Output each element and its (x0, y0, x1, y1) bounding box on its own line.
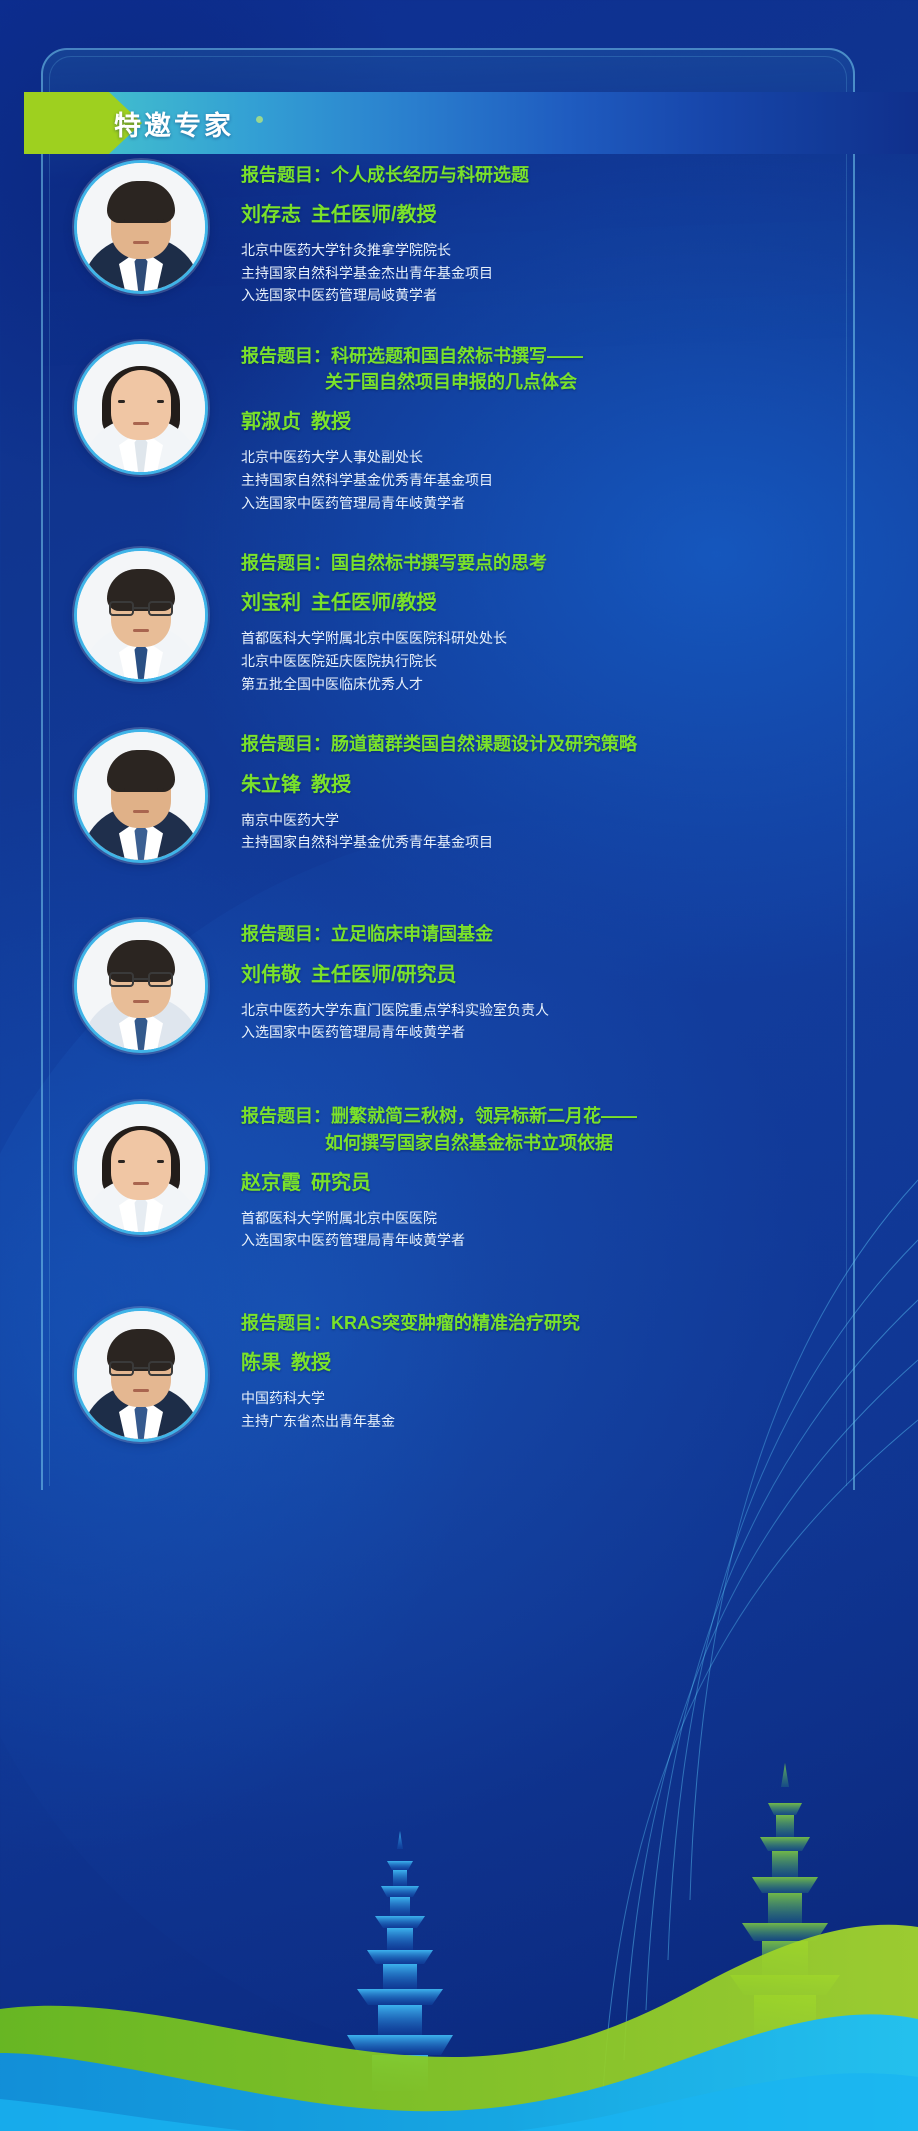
affiliation-list: 首都医科大学附属北京中医医院科研处处长北京中医医院延庆医院执行院长第五批全国中医… (241, 627, 894, 695)
portrait-mouth (133, 1389, 149, 1392)
speaker-name: 陈果教授 (241, 1346, 894, 1375)
affiliation-line: 主持国家自然科学基金优秀青年基金项目 (241, 831, 894, 854)
avatar-wrapper (41, 1097, 241, 1235)
speaker-name: 刘宝利主任医师/教授 (241, 586, 894, 615)
affiliation-list: 北京中医药大学东直门医院重点学科实验室负责人入选国家中医药管理局青年岐黄学者 (241, 999, 894, 1044)
affiliation-line: 第五批全国中医临床优秀人才 (241, 673, 894, 696)
speaker-rank: 研究员 (311, 1172, 371, 1194)
talk-title-continuation: 关于国自然项目申报的几点体会 (241, 369, 894, 395)
wave-blue (0, 2014, 918, 2131)
speaker-row: 报告题目：国自然标书撰写要点的思考刘宝利主任医师/教授首都医科大学附属北京中医医… (41, 544, 918, 695)
speaker-name: 赵京霞研究员 (241, 1166, 894, 1195)
talk-title: 报告题目：科研选题和国自然标书撰写——关于国自然项目申报的几点体会 (241, 343, 894, 395)
affiliation-line: 入选国家中医药管理局青年岐黄学者 (241, 1021, 894, 1044)
speaker-rank: 主任医师/教授 (311, 592, 437, 614)
speaker-row: 报告题目：立足临床申请国基金刘伟敬主任医师/研究员北京中医药大学东直门医院重点学… (41, 915, 918, 1053)
avatar (74, 160, 208, 294)
speaker-list: 报告题目：个人成长经历与科研选题刘存志主任医师/教授北京中医药大学针灸推拿学院院… (41, 156, 918, 1442)
avatar (74, 729, 208, 863)
avatar (74, 341, 208, 475)
affiliation-line: 入选国家中医药管理局岐黄学者 (241, 284, 894, 307)
speaker-rank: 教授 (291, 1352, 331, 1374)
portrait-mouth (133, 629, 149, 632)
affiliation-list: 首都医科大学附属北京中医医院入选国家中医药管理局青年岐黄学者 (241, 1207, 894, 1252)
glasses-icon (109, 972, 173, 988)
affiliation-line: 南京中医药大学 (241, 809, 894, 832)
affiliation-list: 北京中医药大学针灸推拿学院院长主持国家自然科学基金杰出青年基金项目入选国家中医药… (241, 239, 894, 307)
avatar-wrapper (41, 915, 241, 1053)
speaker-details: 报告题目：立足临床申请国基金刘伟敬主任医师/研究员北京中医药大学东直门医院重点学… (241, 915, 918, 1043)
wave-blue-light (0, 2073, 918, 2131)
avatar-wrapper (41, 544, 241, 682)
speaker-details: 报告题目：国自然标书撰写要点的思考刘宝利主任医师/教授首都医科大学附属北京中医医… (241, 544, 918, 695)
talk-title-text: 肠道菌群类国自然课题设计及研究策略 (331, 734, 637, 754)
portrait-mouth (133, 810, 149, 813)
speaker-name-text: 朱立锋 (241, 774, 301, 796)
wave-green (0, 1925, 918, 2131)
speaker-details: 报告题目：删繁就简三秋树，领异标新二月花——如何撰写国家自然基金标书立项依据赵京… (241, 1097, 918, 1252)
talk-title: 报告题目：KRAS突变肿瘤的精准治疗研究 (241, 1310, 894, 1336)
talk-title: 报告题目：国自然标书撰写要点的思考 (241, 550, 894, 576)
avatar (74, 919, 208, 1053)
talk-title: 报告题目：删繁就简三秋树，领异标新二月花——如何撰写国家自然基金标书立项依据 (241, 1103, 894, 1155)
speaker-name-text: 陈果 (241, 1352, 281, 1374)
talk-title-label: 报告题目： (241, 165, 331, 185)
talk-title-label: 报告题目： (241, 1313, 331, 1333)
pagoda-large-icon (730, 1763, 840, 2035)
talk-title-text: KRAS突变肿瘤的精准治疗研究 (331, 1313, 580, 1333)
glasses-icon (109, 601, 173, 617)
decorative-dot-icon (256, 116, 263, 123)
speaker-row: 报告题目：删繁就简三秋树，领异标新二月花——如何撰写国家自然基金标书立项依据赵京… (41, 1097, 918, 1252)
affiliation-line: 北京中医医院延庆医院执行院长 (241, 650, 894, 673)
speaker-name: 刘伟敬主任医师/研究员 (241, 958, 894, 987)
talk-title-text: 立足临床申请国基金 (331, 924, 493, 944)
affiliation-list: 南京中医药大学主持国家自然科学基金优秀青年基金项目 (241, 809, 894, 854)
glasses-icon (109, 1361, 173, 1377)
portrait-eye (118, 400, 125, 403)
talk-title-text: 个人成长经历与科研选题 (331, 165, 529, 185)
poster-page: { "header": { "title": "特邀专家", "chevron_… (0, 0, 918, 2131)
speaker-name: 郭淑贞教授 (241, 405, 894, 434)
speaker-name-text: 刘伟敬 (241, 964, 301, 986)
portrait-mouth (133, 241, 149, 244)
talk-title: 报告题目：个人成长经历与科研选题 (241, 162, 894, 188)
avatar-wrapper (41, 1304, 241, 1442)
avatar-wrapper (41, 156, 241, 294)
affiliation-list: 中国药科大学主持广东省杰出青年基金 (241, 1387, 894, 1432)
affiliation-line: 首都医科大学附属北京中医医院 (241, 1207, 894, 1230)
talk-title-text: 科研选题和国自然标书撰写—— (331, 346, 583, 366)
speaker-details: 报告题目：个人成长经历与科研选题刘存志主任医师/教授北京中医药大学针灸推拿学院院… (241, 156, 918, 307)
portrait-face (111, 1130, 171, 1200)
affiliation-list: 北京中医药大学人事处副处长主持国家自然科学基金优秀青年基金项目入选国家中医药管理… (241, 446, 894, 514)
avatar (74, 1308, 208, 1442)
speaker-row: 报告题目：KRAS突变肿瘤的精准治疗研究陈果教授中国药科大学主持广东省杰出青年基… (41, 1304, 918, 1442)
talk-title-label: 报告题目： (241, 924, 331, 944)
speaker-rank: 教授 (311, 774, 351, 796)
speaker-details: 报告题目：肠道菌群类国自然课题设计及研究策略朱立锋教授南京中医药大学主持国家自然… (241, 725, 918, 853)
talk-title: 报告题目：立足临床申请国基金 (241, 921, 894, 947)
talk-title-label: 报告题目： (241, 553, 331, 573)
portrait-mouth (133, 1000, 149, 1003)
speaker-details: 报告题目：科研选题和国自然标书撰写——关于国自然项目申报的几点体会郭淑贞教授北京… (241, 337, 918, 514)
speaker-details: 报告题目：KRAS突变肿瘤的精准治疗研究陈果教授中国药科大学主持广东省杰出青年基… (241, 1304, 918, 1432)
speaker-name: 朱立锋教授 (241, 768, 894, 797)
portrait-eye (157, 219, 164, 222)
talk-title-label: 报告题目： (241, 734, 331, 754)
speaker-name: 刘存志主任医师/教授 (241, 198, 894, 227)
affiliation-line: 首都医科大学附属北京中医医院科研处处长 (241, 627, 894, 650)
speaker-name-text: 刘宝利 (241, 592, 301, 614)
avatar-wrapper (41, 725, 241, 863)
speaker-name-text: 郭淑贞 (241, 411, 301, 433)
speaker-name-text: 刘存志 (241, 204, 301, 226)
portrait-face (111, 370, 171, 440)
bottom-decoration (0, 1571, 918, 2131)
affiliation-line: 北京中医药大学人事处副处长 (241, 446, 894, 469)
avatar-wrapper (41, 337, 241, 475)
page-title: 特邀专家 (114, 92, 234, 154)
talk-title-continuation: 如何撰写国家自然基金标书立项依据 (241, 1130, 894, 1156)
affiliation-line: 中国药科大学 (241, 1387, 894, 1410)
affiliation-line: 北京中医药大学针灸推拿学院院长 (241, 239, 894, 262)
talk-title-text: 删繁就简三秋树，领异标新二月花—— (331, 1106, 637, 1126)
affiliation-line: 入选国家中医药管理局青年岐黄学者 (241, 1229, 894, 1252)
speaker-name-text: 赵京霞 (241, 1172, 301, 1194)
avatar (74, 548, 208, 682)
affiliation-line: 入选国家中医药管理局青年岐黄学者 (241, 492, 894, 515)
talk-title-label: 报告题目： (241, 1106, 331, 1126)
portrait-eye (118, 219, 125, 222)
affiliation-line: 主持国家自然科学基金优秀青年基金项目 (241, 469, 894, 492)
pagoda-small-icon (347, 1831, 453, 2091)
speaker-row: 报告题目：个人成长经历与科研选题刘存志主任医师/教授北京中医药大学针灸推拿学院院… (41, 156, 918, 307)
talk-title-text: 国自然标书撰写要点的思考 (331, 553, 547, 573)
speaker-row: 报告题目：肠道菌群类国自然课题设计及研究策略朱立锋教授南京中医药大学主持国家自然… (41, 725, 918, 863)
speaker-rank: 主任医师/研究员 (311, 964, 457, 986)
affiliation-line: 主持国家自然科学基金杰出青年基金项目 (241, 262, 894, 285)
portrait-eye (157, 400, 164, 403)
affiliation-line: 北京中医药大学东直门医院重点学科实验室负责人 (241, 999, 894, 1022)
speaker-rank: 主任医师/教授 (311, 204, 437, 226)
talk-title-label: 报告题目： (241, 346, 331, 366)
speaker-rank: 教授 (311, 411, 351, 433)
speaker-row: 报告题目：科研选题和国自然标书撰写——关于国自然项目申报的几点体会郭淑贞教授北京… (41, 337, 918, 514)
affiliation-line: 主持广东省杰出青年基金 (241, 1410, 894, 1433)
portrait-mouth (133, 422, 149, 425)
avatar (74, 1101, 208, 1235)
portrait-mouth (133, 1182, 149, 1185)
talk-title: 报告题目：肠道菌群类国自然课题设计及研究策略 (241, 731, 894, 757)
